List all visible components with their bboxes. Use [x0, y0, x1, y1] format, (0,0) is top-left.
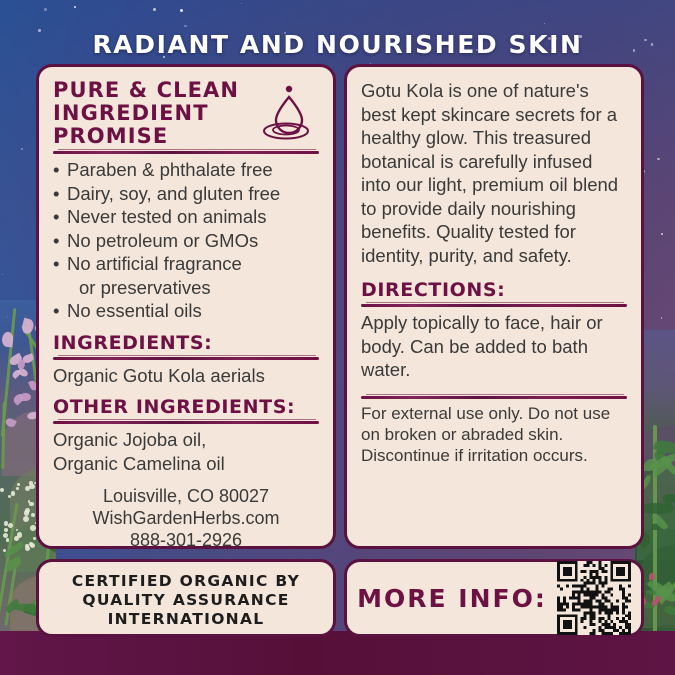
divider-rule	[361, 304, 627, 307]
list-item: Never tested on animals	[53, 205, 319, 229]
list-item: Paraben & phthalate free	[53, 158, 319, 182]
other-ingredients-text: Organic Jojoba oil, Organic Camelina oil	[53, 428, 319, 475]
website-url[interactable]: WishGardenHerbs.com	[53, 507, 319, 529]
description-directions-card: Gotu Kola is one of nature's best kept s…	[344, 64, 644, 549]
list-item: Dairy, soy, and gluten free	[53, 182, 319, 206]
list-item: No essential oils	[53, 299, 319, 323]
company-address: Louisville, CO 80027 WishGardenHerbs.com…	[53, 485, 319, 551]
directions-text: Apply topically to face, hair or body. C…	[361, 311, 627, 382]
other-ingredients-heading: OTHER INGREDIENTS:	[53, 396, 319, 418]
phone-number[interactable]: 888-301-2926	[53, 529, 319, 551]
page-title: RADIANT AND NOURISHED SKIN	[0, 30, 675, 59]
product-label: RADIANT AND NOURISHED SKIN PURE & CLEAN …	[0, 0, 675, 675]
ingredient-promise-card: PURE & CLEAN INGREDIENT PROMISE Paraben …	[36, 64, 336, 549]
warning-text: For external use only. Do not use on bro…	[361, 403, 627, 466]
list-item: No artificial fragrance	[53, 252, 319, 276]
ingredients-heading: INGREDIENTS:	[53, 332, 319, 354]
divider-rule	[361, 396, 627, 399]
promise-heading: PURE & CLEAN INGREDIENT PROMISE	[53, 79, 263, 148]
certification-text: CERTIFIED ORGANIC BY QUALITY ASSURANCE I…	[39, 562, 333, 629]
list-item: No petroleum or GMOs	[53, 229, 319, 253]
list-item-continuation: or preservatives	[53, 276, 319, 300]
divider-rule	[53, 421, 319, 424]
divider-rule	[53, 151, 319, 154]
claims-list: Paraben & phthalate free Dairy, soy, and…	[53, 158, 319, 323]
certification-line-2: QUALITY ASSURANCE	[39, 591, 333, 610]
qr-code-icon[interactable]	[557, 561, 631, 635]
ingredients-text: Organic Gotu Kola aerials	[53, 364, 319, 388]
certification-card: CERTIFIED ORGANIC BY QUALITY ASSURANCE I…	[36, 559, 336, 637]
directions-heading: DIRECTIONS:	[361, 279, 627, 301]
certification-line-3: INTERNATIONAL	[39, 610, 333, 629]
certification-line-1: CERTIFIED ORGANIC BY	[39, 572, 333, 591]
more-info-label: MORE INFO:	[357, 584, 547, 613]
more-info-card[interactable]: MORE INFO:	[344, 559, 644, 637]
divider-rule	[53, 357, 319, 360]
droplet-ripple-icon	[255, 83, 317, 145]
bottom-color-bar	[0, 631, 675, 675]
address-city-state-zip: Louisville, CO 80027	[53, 485, 319, 507]
product-description: Gotu Kola is one of nature's best kept s…	[361, 79, 627, 267]
